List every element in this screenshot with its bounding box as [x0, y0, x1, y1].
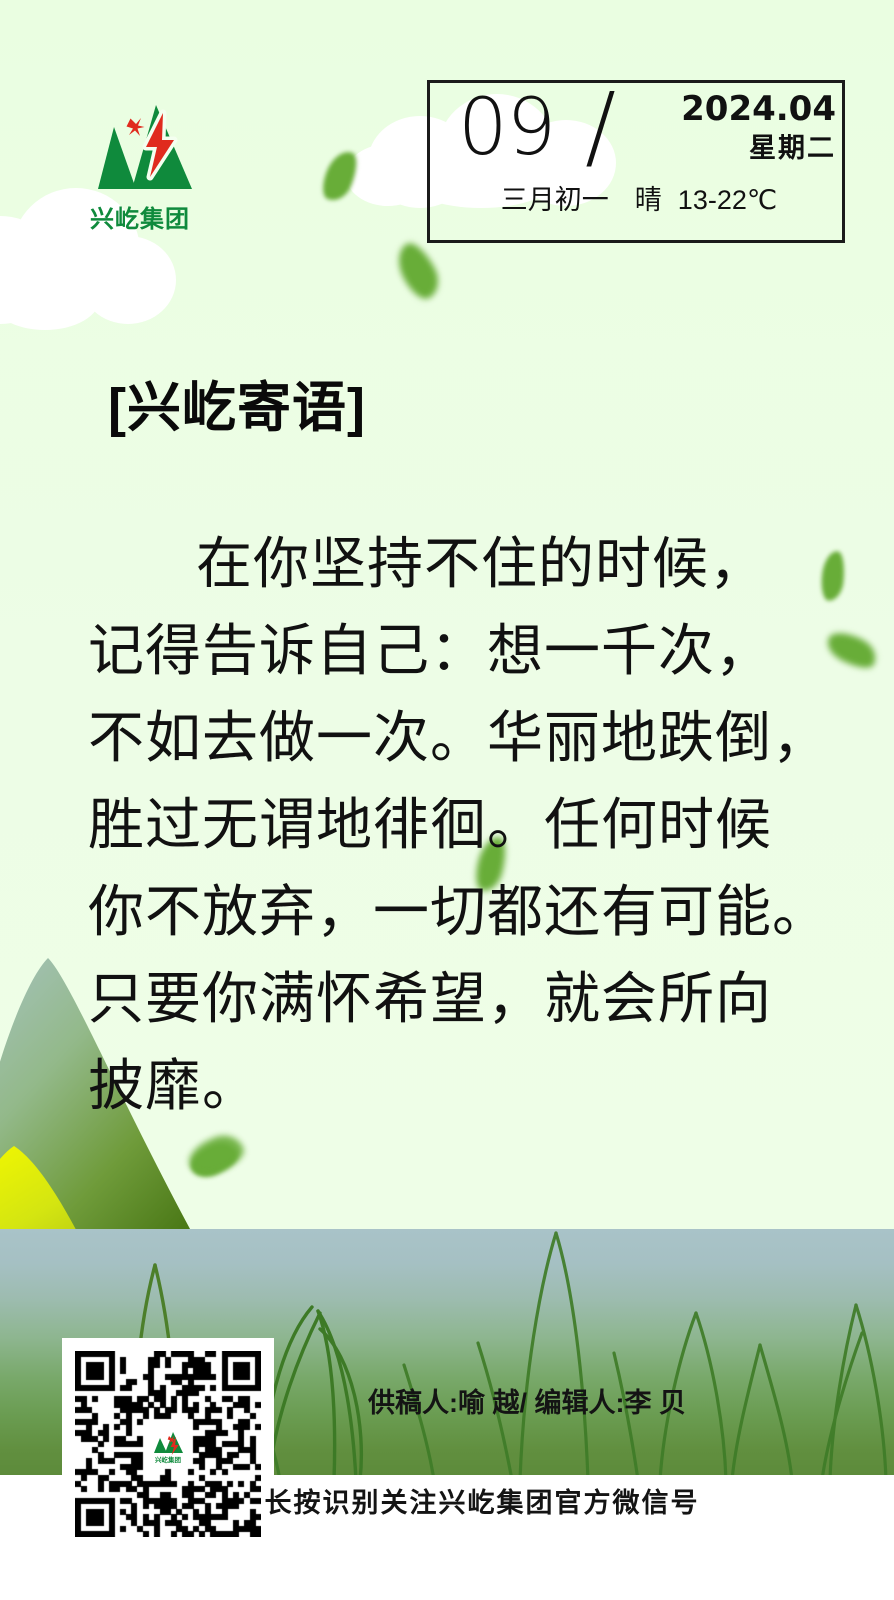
day-number: 09 [458, 89, 555, 167]
mountain-bolt-logo-icon [60, 95, 220, 195]
qr-center-logo: 兴屹集团 [146, 1422, 190, 1466]
weekday: 星期二 [640, 133, 836, 163]
year-month: 2024.04 [640, 91, 836, 127]
lunar-date: 三月初一 [501, 185, 609, 215]
date-card: 09 / 2024.04 星期二 三月初一晴13-22℃ [427, 80, 845, 243]
date-card-top-row: 09 / 2024.04 星期二 [430, 85, 848, 185]
credits-line: 供稿人:喻 越/ 编辑人:李 贝 [0, 1386, 894, 1420]
message-line: 只要你满怀希望，就会所向 [88, 957, 834, 1044]
qr-center-logo-icon: 兴屹集团 [146, 1422, 190, 1466]
message-line: 不如去做一次。华丽地跌倒， [88, 696, 834, 783]
brand-logo-text: 兴屹集团 [60, 199, 220, 234]
page-title: [兴屹寄语] [108, 378, 366, 438]
brand-logo: 兴屹集团 [60, 95, 220, 240]
message-line: 记得告诉自己：想一千次， [88, 609, 834, 696]
poster-canvas: 兴屹集团 09 / 2024.04 星期二 三月初一晴13-22℃ [兴屹寄语]… [0, 0, 894, 1600]
message-line: 胜过无谓地徘徊。任何时候 [88, 783, 834, 870]
wechat-cta-text: 长按识别关注兴屹集团官方微信号 [0, 1486, 894, 1520]
lunar-weather-row: 三月初一晴13-22℃ [430, 183, 848, 217]
message-line: 在你坚持不住的时候， [88, 522, 834, 609]
message-body: 在你坚持不住的时候，记得告诉自己：想一千次，不如去做一次。华丽地跌倒，胜过无谓地… [88, 522, 834, 1131]
weather-text: 晴 [635, 185, 662, 215]
temperature-range: 13-22℃ [678, 185, 777, 215]
svg-text:兴屹集团: 兴屹集团 [155, 1455, 182, 1464]
slash-icon: / [585, 81, 616, 173]
message-line: 你不放弃，一切都还有可能。 [88, 870, 834, 957]
message-line: 披靡。 [88, 1044, 834, 1131]
